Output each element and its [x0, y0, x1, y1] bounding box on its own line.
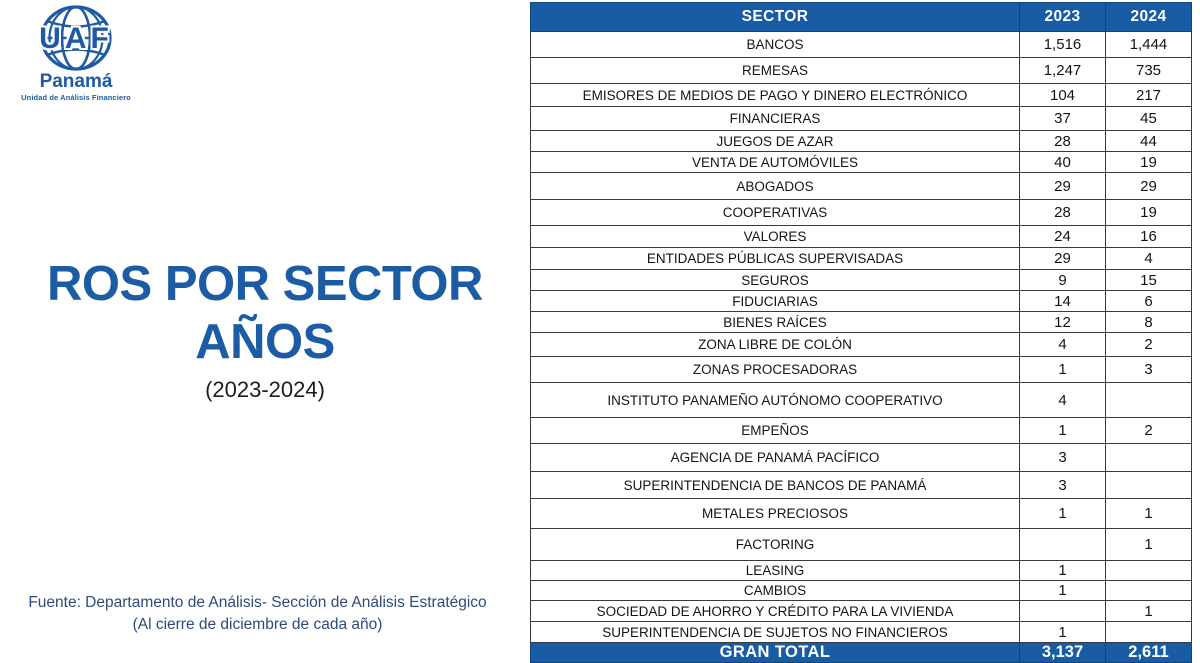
cell-sector: INSTITUTO PANAMEÑO AUTÓNOMO COOPERATIVO — [531, 383, 1020, 418]
cell-2024: 735 — [1106, 58, 1192, 84]
table-row: FIDUCIARIAS146 — [531, 291, 1192, 312]
cell-2024: 217 — [1106, 84, 1192, 107]
cell-sector: SUPERINTENDENCIA DE BANCOS DE PANAMÁ — [531, 472, 1020, 499]
table-row: FINANCIERAS3745 — [531, 107, 1192, 131]
table-row: SOCIEDAD DE AHORRO Y CRÉDITO PARA LA VIV… — [531, 601, 1192, 622]
table-row: METALES PRECIOSOS11 — [531, 499, 1192, 529]
table-row: COOPERATIVAS2819 — [531, 200, 1192, 226]
page-title-line2: AÑOS — [0, 313, 530, 371]
logo-acronym: UAF — [14, 24, 138, 54]
cell-2023: 1 — [1020, 622, 1106, 643]
page-title-years: (2023-2024) — [0, 375, 530, 405]
table-row: SUPERINTENDENCIA DE SUJETOS NO FINANCIER… — [531, 622, 1192, 643]
cell-sector: SEGUROS — [531, 270, 1020, 291]
source-footnote-line1: Fuente: Departamento de Análisis- Secció… — [0, 592, 515, 614]
cell-2024: 6 — [1106, 291, 1192, 312]
table-row: CAMBIOS1 — [531, 581, 1192, 601]
cell-2023: 1,247 — [1020, 58, 1106, 84]
cell-2023: 3 — [1020, 444, 1106, 472]
cell-2023: 9 — [1020, 270, 1106, 291]
cell-sector: SOCIEDAD DE AHORRO Y CRÉDITO PARA LA VIV… — [531, 601, 1020, 622]
cell-2024: 2 — [1106, 333, 1192, 357]
cell-2023: 1 — [1020, 357, 1106, 383]
grand-total-2023: 3,137 — [1020, 643, 1106, 663]
cell-2023: 28 — [1020, 131, 1106, 152]
cell-2023: 104 — [1020, 84, 1106, 107]
cell-sector: CAMBIOS — [531, 581, 1020, 601]
table-row: ZONA LIBRE DE COLÓN42 — [531, 333, 1192, 357]
table-row: INSTITUTO PANAMEÑO AUTÓNOMO COOPERATIVO4 — [531, 383, 1192, 418]
cell-2023: 40 — [1020, 152, 1106, 173]
cell-2024: 19 — [1106, 200, 1192, 226]
table-row: BIENES RAÍCES128 — [531, 312, 1192, 333]
cell-sector: EMPEÑOS — [531, 418, 1020, 444]
cell-sector: METALES PRECIOSOS — [531, 499, 1020, 529]
cell-sector: ZONAS PROCESADORAS — [531, 357, 1020, 383]
cell-sector: EMISORES DE MEDIOS DE PAGO Y DINERO ELEC… — [531, 84, 1020, 107]
cell-sector: BANCOS — [531, 32, 1020, 58]
cell-2024: 1 — [1106, 499, 1192, 529]
cell-sector: VALORES — [531, 226, 1020, 248]
table-row: AGENCIA DE PANAMÁ PACÍFICO3 — [531, 444, 1192, 472]
cell-2023 — [1020, 529, 1106, 561]
uaf-logo: UAF Panamá Unidad de Análisis Financiero — [14, 4, 138, 100]
cell-sector: AGENCIA DE PANAMÁ PACÍFICO — [531, 444, 1020, 472]
logo-country: Panamá — [14, 72, 138, 91]
cell-2024: 2 — [1106, 418, 1192, 444]
table-row: VENTA DE AUTOMÓVILES4019 — [531, 152, 1192, 173]
grand-total-label: GRAN TOTAL — [531, 643, 1020, 663]
cell-2023: 1 — [1020, 561, 1106, 581]
cell-2024: 29 — [1106, 173, 1192, 200]
table-row: REMESAS1,247735 — [531, 58, 1192, 84]
cell-2024 — [1106, 622, 1192, 643]
table-row: ABOGADOS2929 — [531, 173, 1192, 200]
table-header: SECTOR 2023 2024 — [531, 3, 1192, 32]
table-row: SEGUROS915 — [531, 270, 1192, 291]
cell-2023: 24 — [1020, 226, 1106, 248]
cell-2024 — [1106, 561, 1192, 581]
cell-2024: 1 — [1106, 529, 1192, 561]
page-title-line1: ROS POR SECTOR — [0, 255, 530, 313]
cell-2024: 1,444 — [1106, 32, 1192, 58]
cell-sector: FIDUCIARIAS — [531, 291, 1020, 312]
cell-2024 — [1106, 444, 1192, 472]
cell-2024: 8 — [1106, 312, 1192, 333]
source-footnote-line2: (Al cierre de diciembre de cada año) — [0, 614, 515, 636]
cell-2023: 1,516 — [1020, 32, 1106, 58]
cell-2024: 19 — [1106, 152, 1192, 173]
table-row: JUEGOS DE AZAR2844 — [531, 131, 1192, 152]
table-body: BANCOS1,5161,444REMESAS1,247735EMISORES … — [531, 32, 1192, 643]
cell-2023: 14 — [1020, 291, 1106, 312]
table-row: EMPEÑOS12 — [531, 418, 1192, 444]
cell-sector: JUEGOS DE AZAR — [531, 131, 1020, 152]
grand-total-row: GRAN TOTAL 3,137 2,611 — [531, 643, 1192, 663]
cell-2023: 1 — [1020, 581, 1106, 601]
table-row: LEASING1 — [531, 561, 1192, 581]
cell-2024: 45 — [1106, 107, 1192, 131]
cell-2023: 4 — [1020, 333, 1106, 357]
left-panel: UAF Panamá Unidad de Análisis Financiero… — [0, 0, 530, 652]
cell-2024: 3 — [1106, 357, 1192, 383]
table-row: SUPERINTENDENCIA DE BANCOS DE PANAMÁ3 — [531, 472, 1192, 499]
column-header-2023: 2023 — [1020, 3, 1106, 32]
cell-2024 — [1106, 472, 1192, 499]
page-title: ROS POR SECTOR AÑOS (2023-2024) — [0, 255, 530, 405]
cell-2023: 4 — [1020, 383, 1106, 418]
table-row: BANCOS1,5161,444 — [531, 32, 1192, 58]
cell-2023: 29 — [1020, 173, 1106, 200]
cell-sector: LEASING — [531, 561, 1020, 581]
table-row: ENTIDADES PÚBLICAS SUPERVISADAS294 — [531, 248, 1192, 270]
column-header-2024: 2024 — [1106, 3, 1192, 32]
table-row: FACTORING1 — [531, 529, 1192, 561]
cell-sector: ABOGADOS — [531, 173, 1020, 200]
cell-2024: 4 — [1106, 248, 1192, 270]
cell-2024: 16 — [1106, 226, 1192, 248]
table-footer: GRAN TOTAL 3,137 2,611 — [531, 643, 1192, 663]
cell-2024 — [1106, 383, 1192, 418]
cell-2024: 1 — [1106, 601, 1192, 622]
source-footnote: Fuente: Departamento de Análisis- Secció… — [0, 592, 515, 636]
cell-2023: 1 — [1020, 499, 1106, 529]
cell-sector: SUPERINTENDENCIA DE SUJETOS NO FINANCIER… — [531, 622, 1020, 643]
ros-table-container: SECTOR 2023 2024 BANCOS1,5161,444REMESAS… — [530, 2, 1191, 650]
table-row: ZONAS PROCESADORAS13 — [531, 357, 1192, 383]
cell-2023: 1 — [1020, 418, 1106, 444]
table-row: VALORES2416 — [531, 226, 1192, 248]
cell-2023: 28 — [1020, 200, 1106, 226]
cell-sector: VENTA DE AUTOMÓVILES — [531, 152, 1020, 173]
logo-mark: UAF — [14, 4, 138, 74]
cell-2024: 44 — [1106, 131, 1192, 152]
cell-2023 — [1020, 601, 1106, 622]
cell-sector: FACTORING — [531, 529, 1020, 561]
ros-by-sector-table: SECTOR 2023 2024 BANCOS1,5161,444REMESAS… — [530, 2, 1192, 663]
cell-2023: 37 — [1020, 107, 1106, 131]
cell-2023: 29 — [1020, 248, 1106, 270]
grand-total-2024: 2,611 — [1106, 643, 1192, 663]
cell-2024: 15 — [1106, 270, 1192, 291]
cell-sector: BIENES RAÍCES — [531, 312, 1020, 333]
cell-sector: ENTIDADES PÚBLICAS SUPERVISADAS — [531, 248, 1020, 270]
table-header-row: SECTOR 2023 2024 — [531, 3, 1192, 32]
cell-sector: COOPERATIVAS — [531, 200, 1020, 226]
logo-tagline: Unidad de Análisis Financiero — [14, 93, 138, 103]
table-row: EMISORES DE MEDIOS DE PAGO Y DINERO ELEC… — [531, 84, 1192, 107]
cell-sector: FINANCIERAS — [531, 107, 1020, 131]
cell-sector: REMESAS — [531, 58, 1020, 84]
column-header-sector: SECTOR — [531, 3, 1020, 32]
cell-2023: 12 — [1020, 312, 1106, 333]
cell-2023: 3 — [1020, 472, 1106, 499]
cell-sector: ZONA LIBRE DE COLÓN — [531, 333, 1020, 357]
cell-2024 — [1106, 581, 1192, 601]
